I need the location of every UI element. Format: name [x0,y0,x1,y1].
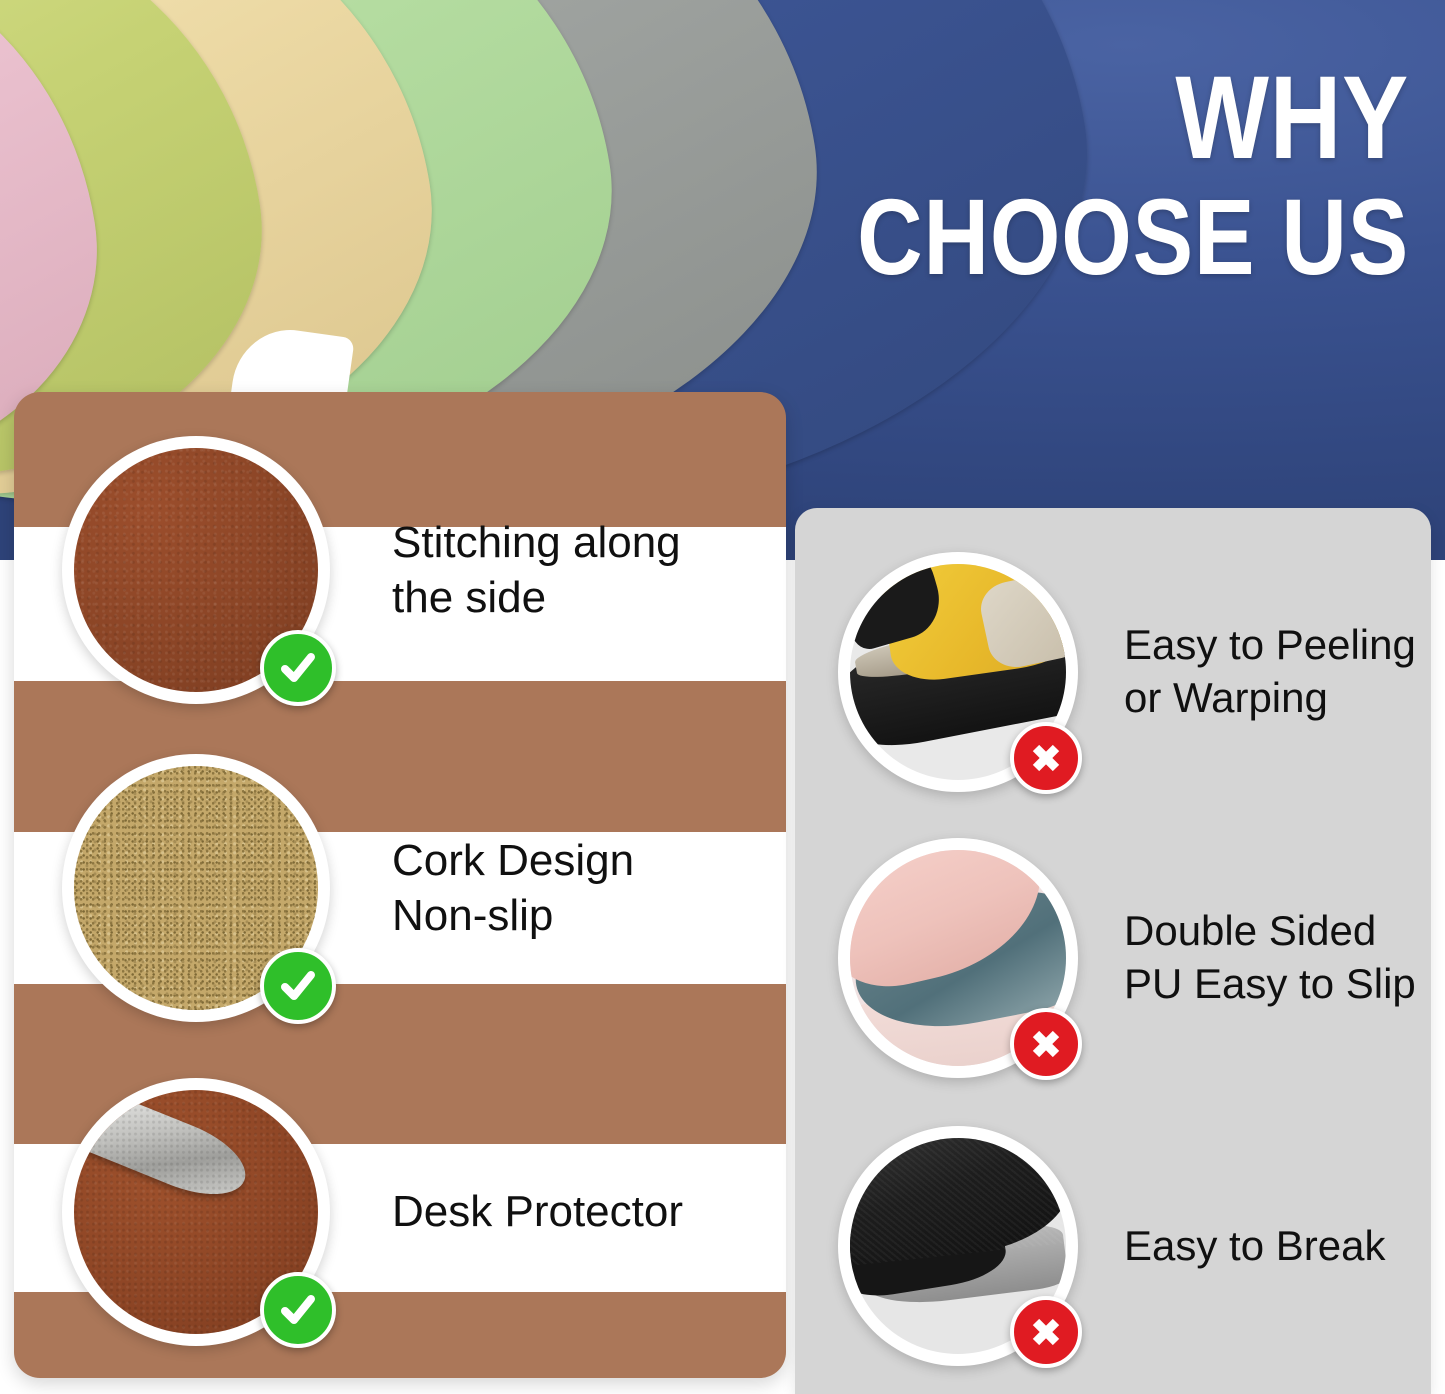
cons-photo-2 [838,838,1078,1078]
cons-photo-1 [838,552,1078,792]
cons-row-2: Double Sided PU Easy to Slip [838,838,1438,1078]
pros-photo-2 [62,754,330,1022]
check-icon-3 [260,1272,336,1348]
cross-icon-1 [1010,722,1082,794]
pros-row-2: Cork Design Non-slip [62,758,782,1018]
check-icon-1 [260,630,336,706]
cons-row-1: Easy to Peeling or Warping [838,552,1438,792]
pros-photo-3 [62,1078,330,1346]
cons-row-3: Easy to Break [838,1126,1438,1366]
pros-label-2: Cork Design Non-slip [392,833,634,944]
cross-icon-2 [1010,1008,1082,1080]
pros-label-1: Stitching along the side [392,515,681,626]
check-icon-2 [260,948,336,1024]
pros-photo-1 [62,436,330,704]
title-line-2: CHOOSE US [857,187,1409,286]
pros-label-3: Desk Protector [392,1184,683,1239]
why-choose-us-infographic: WHY CHOOSE US Stitching along the side [0,0,1445,1394]
pros-row-3: Desk Protector [62,1082,782,1342]
cross-icon-3 [1010,1296,1082,1368]
cons-label-1: Easy to Peeling or Warping [1124,619,1416,725]
knife-blade-shape [83,1091,256,1210]
title-line-1: WHY [857,64,1409,173]
pros-row-1: Stitching along the side [62,440,782,700]
page-title: WHY CHOOSE US [752,64,1409,286]
cons-label-2: Double Sided PU Easy to Slip [1124,905,1416,1011]
cons-photo-3 [838,1126,1078,1366]
cons-label-3: Easy to Break [1124,1220,1385,1273]
